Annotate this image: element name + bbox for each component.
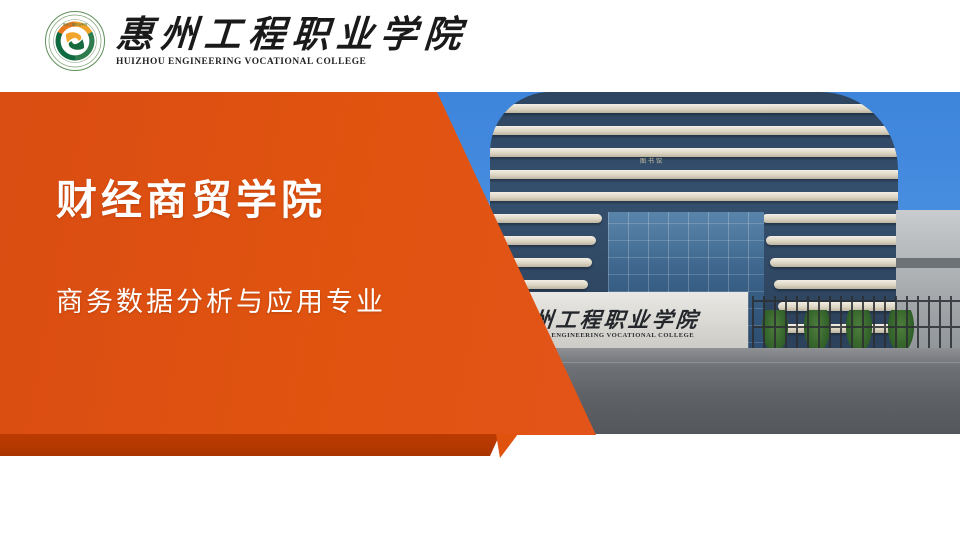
college-wordmark: 惠州工程职业学院 HUIZHOU ENGINEERING VOCATIONAL … (116, 15, 468, 68)
college-name-chinese: 惠州工程职业学院 (115, 17, 470, 55)
page-subtitle: 商务数据分析与应用专业 (56, 286, 386, 318)
page-title: 财经商贸学院 (56, 178, 386, 224)
facade-label: 图书馆 (640, 156, 664, 165)
orange-accent-strip (0, 434, 520, 456)
slide-header: 惠州工程职业学院 惠州工程职业学院 HUIZHOU ENGINEERING VO… (0, 0, 960, 92)
college-name-english: HUIZHOU ENGINEERING VOCATIONAL COLLEGE (116, 57, 366, 67)
campus-fence (752, 296, 960, 354)
title-block: 财经商贸学院 商务数据分析与应用专业 (56, 178, 386, 318)
college-logo-lockup: 惠州工程职业学院 惠州工程职业学院 HUIZHOU ENGINEERING VO… (44, 10, 468, 72)
orange-accent-strip-tip (496, 434, 526, 458)
university-emblem-icon: 惠州工程职业学院 (44, 10, 106, 72)
svg-text:惠州工程职业学院: 惠州工程职业学院 (63, 22, 88, 27)
presentation-slide: 图书馆 惠州工程职业学院 HUIZHOU ENGINEERING VOCATIO… (0, 0, 960, 540)
